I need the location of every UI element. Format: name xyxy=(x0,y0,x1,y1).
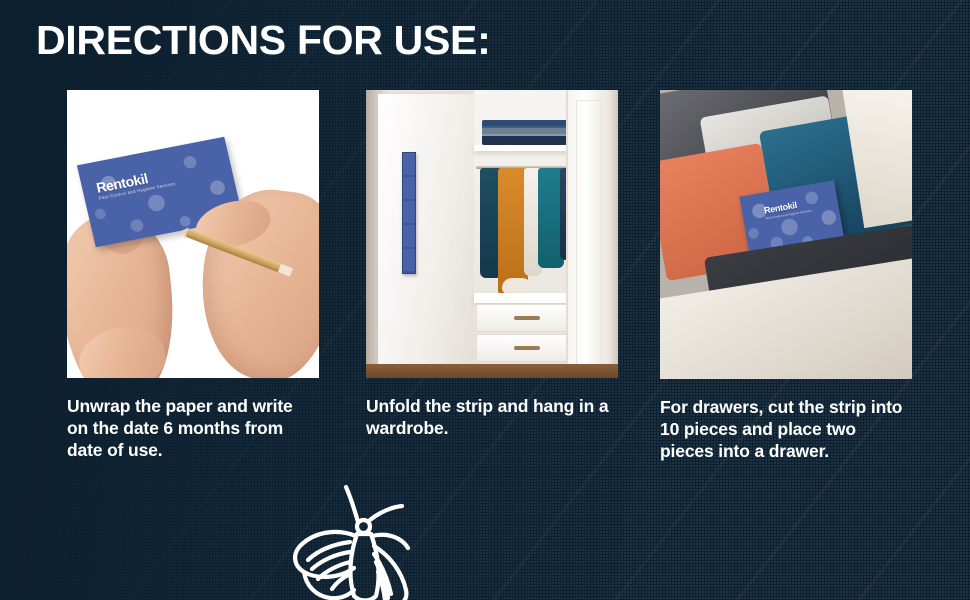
step-3-caption: For drawers, cut the strip into 10 piece… xyxy=(660,396,912,462)
wardrobe-drawer-top xyxy=(476,304,578,332)
step-1-caption: Unwrap the paper and write on the date 6… xyxy=(67,395,313,461)
shoe xyxy=(502,278,532,294)
wardrobe-base-shelf xyxy=(474,293,580,303)
wardrobe-closed-door xyxy=(566,90,610,378)
wardrobe-drawer-bottom xyxy=(476,334,578,362)
folded-clothes-on-shelf xyxy=(482,120,570,145)
step-2: Unfold the strip and hang in a wardrobe. xyxy=(366,90,618,439)
wall-right xyxy=(608,90,618,378)
wardrobe-shelf xyxy=(474,145,580,151)
drawer-handle-icon xyxy=(514,316,540,320)
drawer-handle-icon xyxy=(514,346,540,350)
wardrobe-open-door xyxy=(378,94,474,370)
wardrobe-with-hanging-strip-photo xyxy=(366,90,618,378)
step-2-caption: Unfold the strip and hang in a wardrobe. xyxy=(366,395,612,439)
hands-writing-on-moth-paper-photo: Rentokil Pest Control and Hygiene Servic… xyxy=(67,90,319,378)
drawer-with-moth-paper-photo: Rentokil Pest Control and Hygiene Servic… xyxy=(660,90,912,379)
step-1: Rentokil Pest Control and Hygiene Servic… xyxy=(67,90,319,461)
moth-icon xyxy=(284,484,456,600)
wooden-floor xyxy=(366,364,618,378)
poster-stage: DIRECTIONS FOR USE: Rentokil Pest Contro… xyxy=(0,0,970,600)
page-title: DIRECTIONS FOR USE: xyxy=(36,20,490,62)
hanging-moth-strip xyxy=(402,152,416,274)
step-3: Rentokil Pest Control and Hygiene Servic… xyxy=(660,90,912,462)
